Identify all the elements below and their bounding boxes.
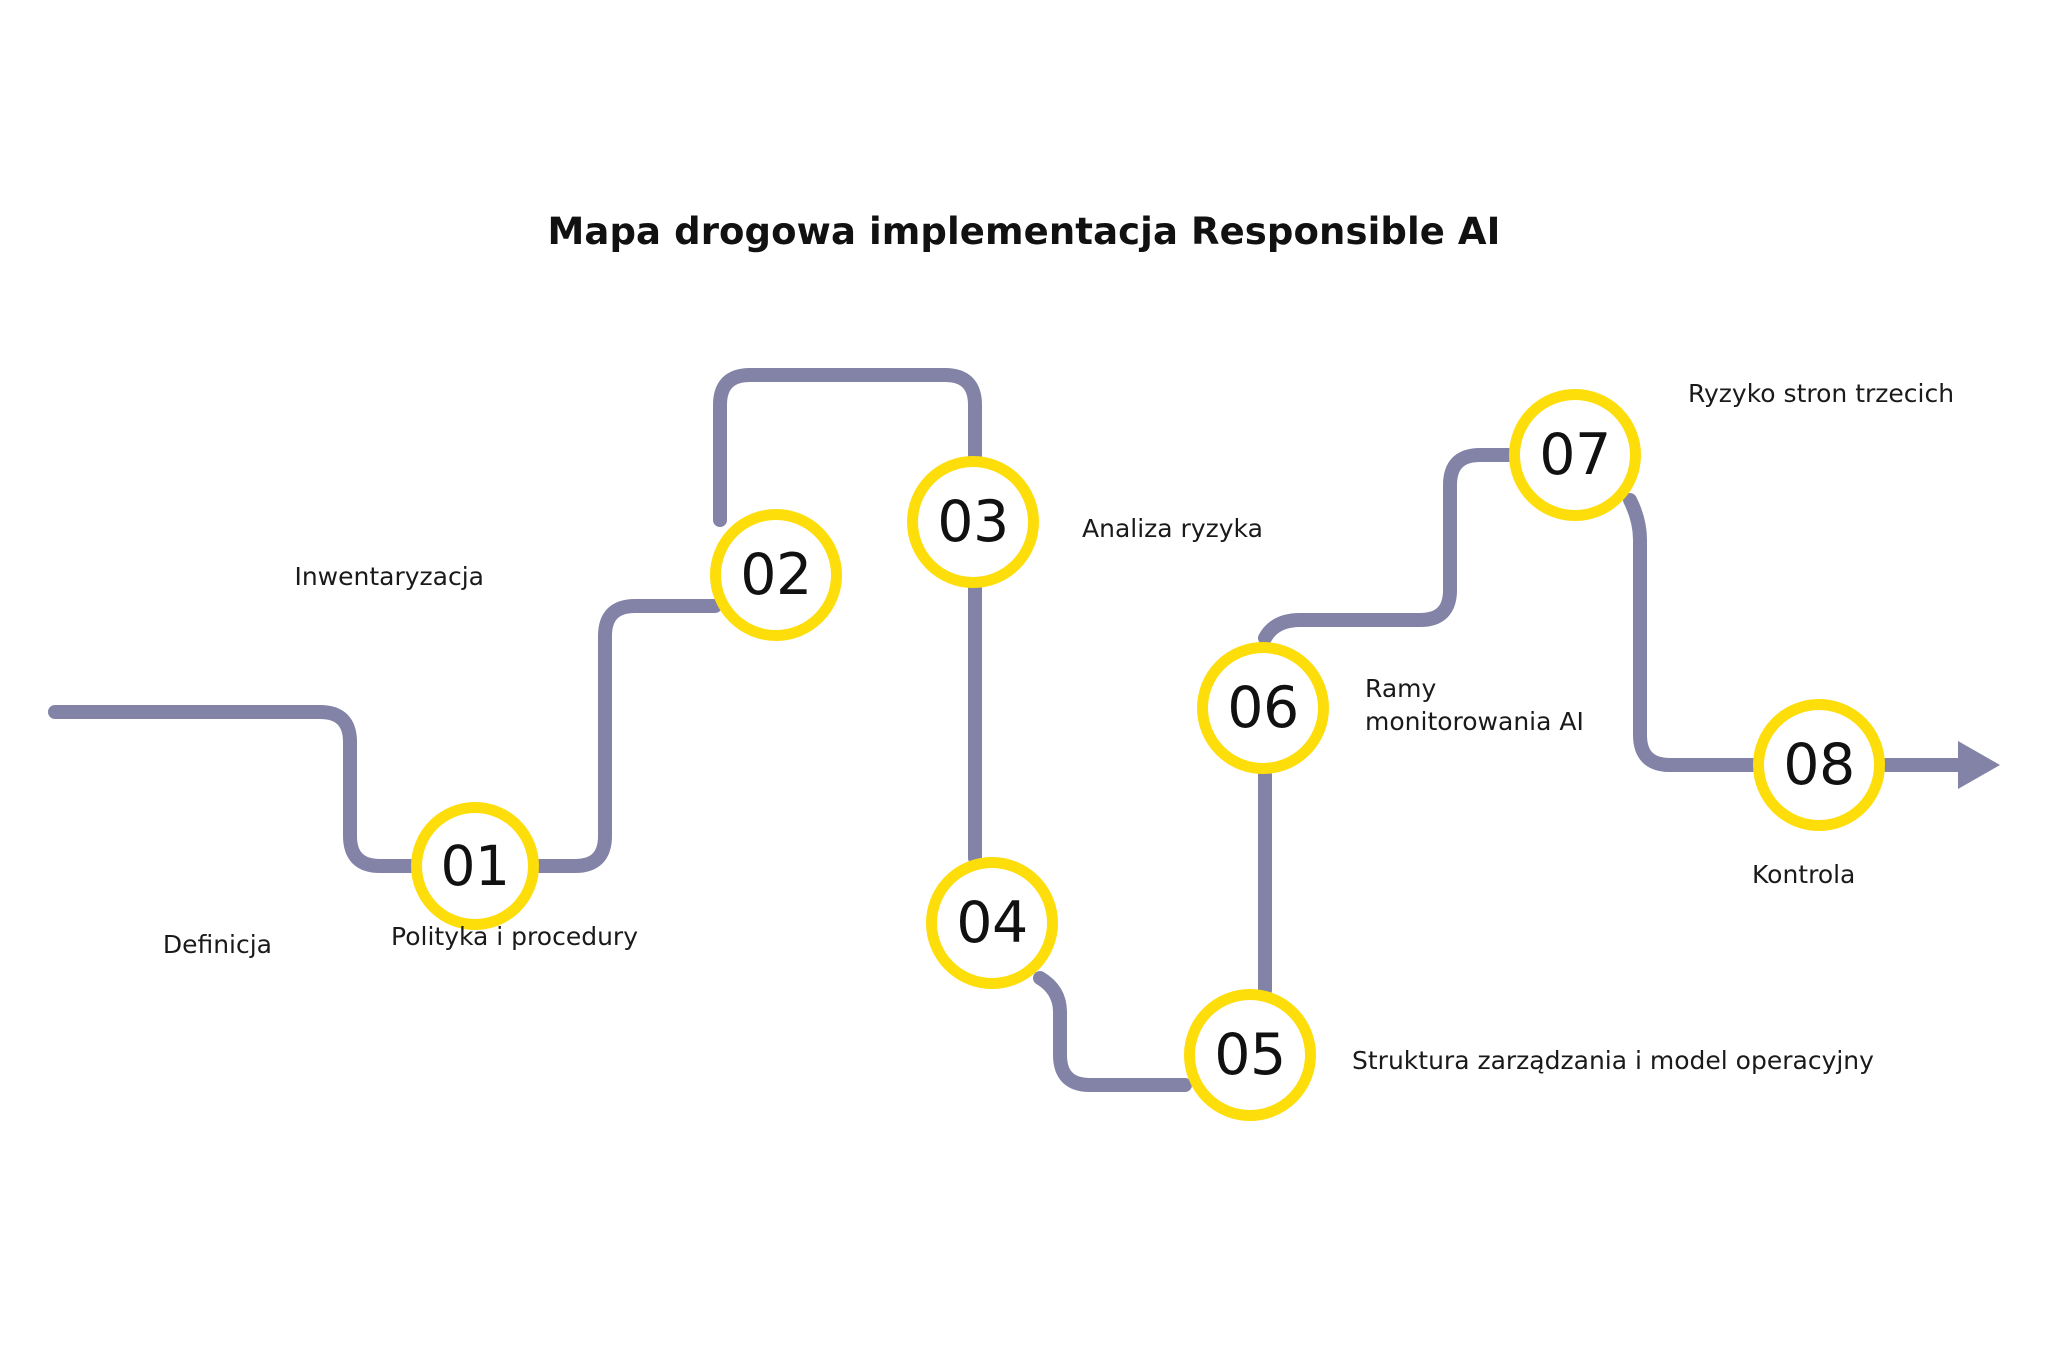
step-label-04: Polityka i procedury bbox=[0, 920, 638, 953]
step-number-06: 06 bbox=[1227, 680, 1299, 737]
step-number-04: 04 bbox=[956, 895, 1028, 952]
step-number-01: 01 bbox=[441, 839, 510, 894]
step-node-08[interactable]: 08 bbox=[1753, 699, 1885, 831]
step-label-08: Kontrola bbox=[1752, 858, 1855, 891]
step-number-07: 07 bbox=[1539, 427, 1611, 484]
step-label-06: Ramy monitorowania AI bbox=[1365, 672, 1584, 739]
step-label-02: Inwentaryzacja bbox=[0, 560, 484, 593]
roadmap-canvas: Mapa drogowa implementacja Responsible A… bbox=[0, 0, 2048, 1365]
step-number-08: 08 bbox=[1783, 737, 1855, 794]
step-node-01[interactable]: 01 bbox=[411, 802, 539, 930]
step-node-07[interactable]: 07 bbox=[1509, 389, 1641, 521]
step-node-02[interactable]: 02 bbox=[710, 509, 842, 641]
step-label-03: Analiza ryzyka bbox=[1082, 512, 1263, 545]
step-number-02: 02 bbox=[740, 547, 812, 604]
step-node-05[interactable]: 05 bbox=[1184, 989, 1316, 1121]
step-node-06[interactable]: 06 bbox=[1197, 642, 1329, 774]
step-nodes-layer: 01Definicja02Inwentaryzacja03Analiza ryz… bbox=[0, 0, 2048, 1365]
step-label-05: Struktura zarządzania i model operacyjny bbox=[1352, 1044, 1874, 1077]
step-node-04[interactable]: 04 bbox=[926, 857, 1058, 989]
step-node-03[interactable]: 03 bbox=[907, 456, 1039, 588]
step-number-05: 05 bbox=[1214, 1027, 1286, 1084]
step-number-03: 03 bbox=[937, 494, 1009, 551]
step-label-07: Ryzyko stron trzecich bbox=[1688, 377, 1954, 410]
